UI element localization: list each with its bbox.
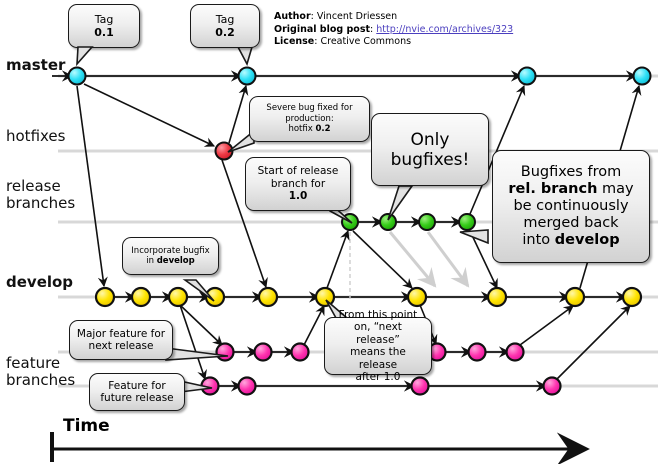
master-to-develop-path [77,86,104,286]
callout-start-release: Start of release branch for 1.0 [245,157,351,211]
callout-severe-bug-line3: hotfix [288,124,315,134]
callout-major-feature-line2: next release [76,340,166,353]
callout-only-bugfixes: Only bugfixes! [371,113,489,186]
lane-label-feature-branches: featurebranches [6,355,75,389]
commit-nodes-hotfixes [216,143,233,160]
callout-tag-0-2-line1: Tag [197,13,253,26]
credit-author-value: Vincent Driessen [317,11,397,22]
callout-future-feature: Feature for future release [89,373,185,411]
callout-incorporate-line1: Incorporate bugfix [129,246,212,257]
callout-future-feature-line2: future release [96,392,178,405]
callout-incorporate-line2: in [146,256,156,266]
callout-start-release-line1: Start of release [252,165,344,178]
lane-label-hotfixes: hotfixes [6,128,65,145]
credits-block: Author: Vincent Driessen Original blog p… [274,11,513,49]
lane-label-master: master [6,57,65,74]
callout-tag-0-1-line2: 0.1 [94,26,114,39]
credit-license-value: Creative Commons [320,36,411,47]
callout-tag-0-2-line2: 0.2 [215,26,235,39]
callout-next-release-line1: From this point [331,309,425,322]
callout-major-feature-line1: Major feature for [76,328,166,341]
callout-bugfixes-rel-branch: rel. branch [508,181,597,197]
callout-bugfixes-from-release: Bugfixes from rel. branch may be continu… [492,150,650,263]
callout-only-bugfixes-line1: Only [378,130,482,150]
callout-tag-0-2: Tag 0.2 [190,4,260,48]
callout-start-release-version: 1.0 [289,190,308,202]
callout-bugfixes-develop: develop [555,232,620,248]
callout-severe-bug-line1: Severe bug fixed for [256,103,363,114]
lane-label-release-branches: releasebranches [6,178,75,212]
callout-bugfixes-line5a: into [522,232,554,248]
callout-severe-bug-line2: production: [256,114,363,125]
callout-tag-0-1-line1: Tag [75,13,133,26]
callout-only-bugfixes-line2: bugfixes! [378,150,482,170]
callout-next-release-line2: on, “next release” [331,321,425,346]
callout-bugfixes-line4: merged back [499,215,643,232]
credit-blog-link[interactable]: http://nvie.com/archives/323 [376,24,513,35]
credit-blog-key: Original blog post [274,24,370,35]
callout-major-feature: Major feature for next release [69,320,173,360]
time-axis-label: Time [63,416,110,436]
callout-severe-bug: Severe bug fixed for production: hotfix … [249,96,370,142]
credit-blog: Original blog post: http://nvie.com/arch… [274,24,513,37]
credit-author: Author: Vincent Driessen [274,11,513,24]
callout-next-release-meaning: From this point on, “next release” means… [324,317,432,375]
credit-author-key: Author [274,11,311,22]
lane-label-develop: develop [6,274,73,291]
callout-next-release-line3: means the release [331,346,425,371]
callout-incorporate-bugfix: Incorporate bugfix in develop [122,237,219,275]
callout-start-release-line2: branch for [252,178,344,191]
callout-future-feature-line1: Feature for [96,380,178,393]
credit-license-key: License [274,36,314,47]
callout-bugfixes-line2b: may [597,181,633,197]
callout-next-release-line4: after 1.0 [331,371,425,384]
time-axis [52,432,580,462]
callout-bugfixes-line1: Bugfixes from [499,164,643,181]
callout-incorporate-branch: develop [157,256,195,266]
credit-license: License: Creative Commons [274,36,513,49]
callout-bugfixes-line3: be continuously [499,198,643,215]
callout-severe-bug-version: 0.2 [315,124,330,134]
callout-tag-0-1: Tag 0.1 [68,4,140,48]
gitflow-diagram: master hotfixes releasebranches develop … [0,0,658,464]
